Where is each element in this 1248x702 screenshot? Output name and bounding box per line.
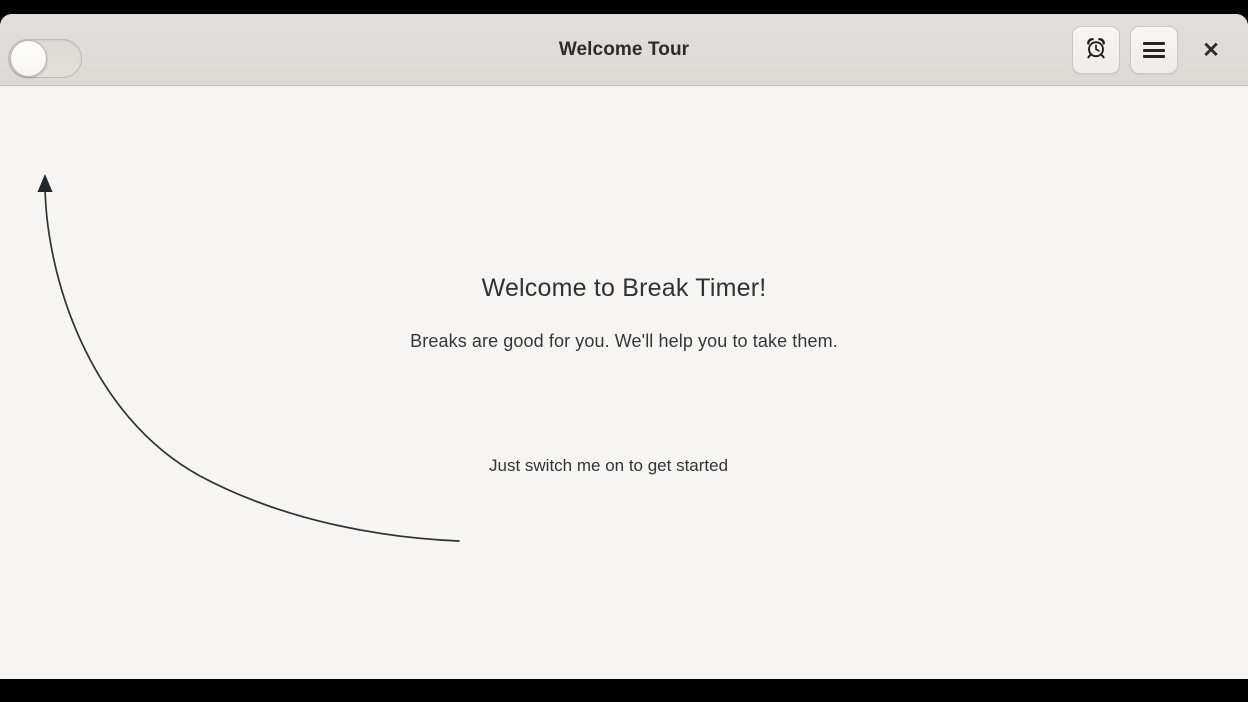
page-subtitle: Breaks are good for you. We'll help you … bbox=[0, 331, 1248, 352]
hamburger-menu-icon bbox=[1143, 42, 1165, 58]
switch-callout-label: Just switch me on to get started bbox=[489, 456, 728, 476]
page-title: Welcome to Break Timer! bbox=[0, 274, 1248, 303]
screen: Welcome Tour bbox=[0, 0, 1248, 702]
close-icon: ✕ bbox=[1202, 40, 1220, 61]
curved-pointer-arrow bbox=[0, 86, 1248, 679]
main-content: Welcome to Break Timer! Breaks are good … bbox=[0, 86, 1248, 679]
app-window: Welcome Tour bbox=[0, 14, 1248, 679]
switch-knob[interactable] bbox=[10, 40, 47, 77]
header-bar: Welcome Tour bbox=[0, 14, 1248, 86]
alarm-clock-icon bbox=[1084, 36, 1108, 65]
close-button[interactable]: ✕ bbox=[1190, 26, 1232, 74]
menu-button[interactable] bbox=[1130, 26, 1178, 74]
alarm-clock-button[interactable] bbox=[1072, 26, 1120, 74]
switch-track[interactable] bbox=[8, 39, 82, 78]
header-controls: ✕ bbox=[1072, 14, 1232, 86]
window-title: Welcome Tour bbox=[0, 14, 1248, 86]
enable-break-timer-switch[interactable] bbox=[8, 38, 82, 78]
